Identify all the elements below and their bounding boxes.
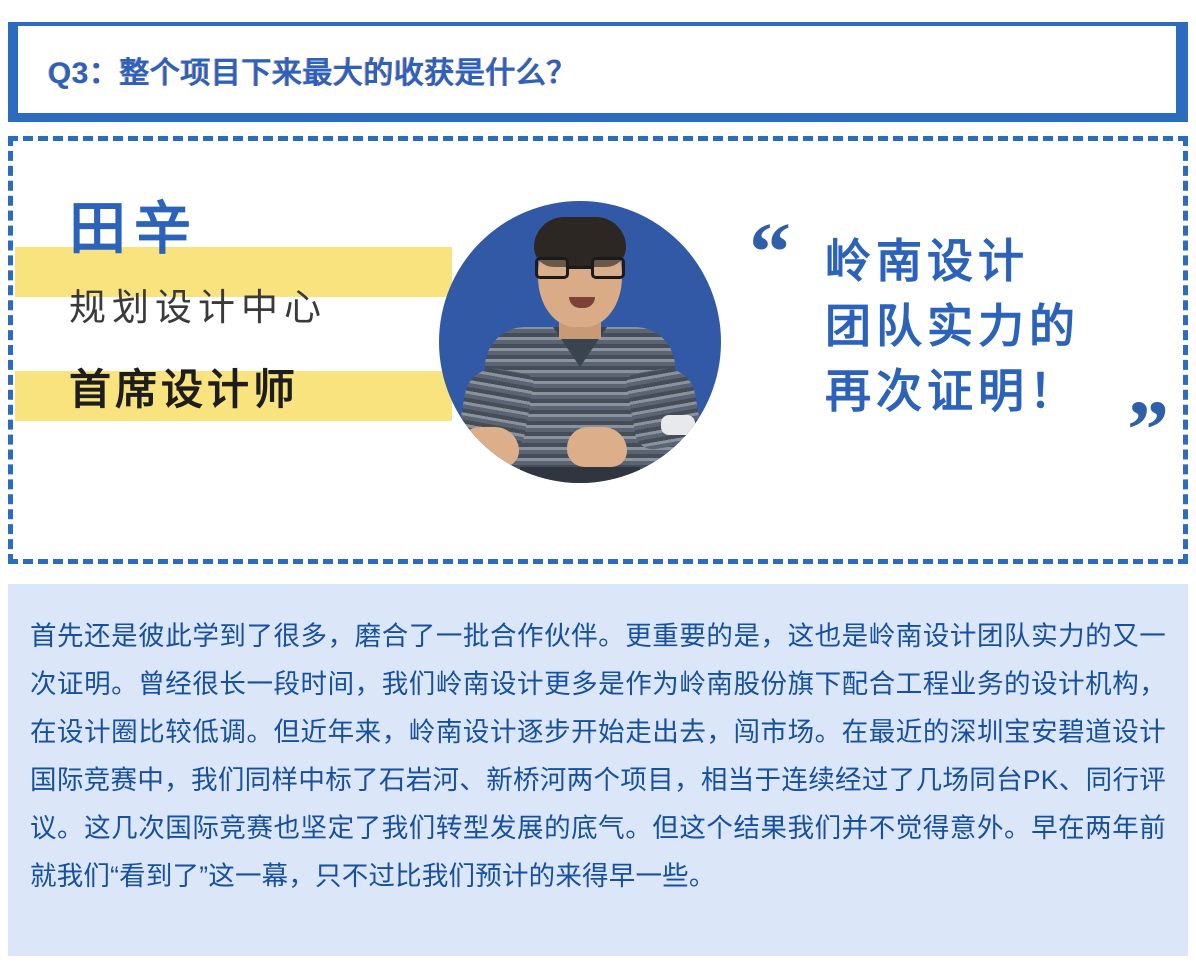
portrait-arm-right xyxy=(625,364,704,452)
question-title: Q3：整个项目下来最大的收获是什么？ xyxy=(18,48,577,92)
speaker-name-block: 田辛 规划设计中心 首席设计师 xyxy=(13,209,483,479)
portrait-cuff xyxy=(661,415,695,435)
speaker-title: 首席设计师 xyxy=(69,369,299,411)
glasses-icon xyxy=(535,257,625,279)
pull-quote: “ 岭南设计 团队实力的 再次证明！ ” xyxy=(741,211,1181,501)
quote-line-1: 岭南设计 xyxy=(825,229,1165,294)
answer-panel: 首先还是彼此学到了很多，磨合了一批合作伙伴。更重要的是，这也是岭南设计团队实力的… xyxy=(8,584,1188,956)
profile-card: 田辛 规划设计中心 首席设计师 “ 岭南设计 团队实力的 再次证明！ ” xyxy=(8,136,1188,564)
speaker-portrait xyxy=(439,201,721,483)
speaker-department: 规划设计中心 xyxy=(69,289,327,326)
quote-open-icon: “ xyxy=(749,211,791,295)
question-header-box: Q3：整个项目下来最大的收获是什么？ xyxy=(8,22,1188,122)
speaker-name: 田辛 xyxy=(69,201,199,258)
portrait-hand-right xyxy=(567,427,627,467)
quote-close-icon: ” xyxy=(1127,389,1169,473)
answer-text: 首先还是彼此学到了很多，磨合了一批合作伙伴。更重要的是，这也是岭南设计团队实力的… xyxy=(30,612,1166,900)
quote-line-2: 团队实力的 xyxy=(825,294,1165,359)
portrait-belt xyxy=(520,467,640,483)
quote-lines: 岭南设计 团队实力的 再次证明！ xyxy=(825,229,1165,424)
quote-line-3: 再次证明！ xyxy=(825,359,1165,424)
portrait-hand-left xyxy=(459,427,519,467)
